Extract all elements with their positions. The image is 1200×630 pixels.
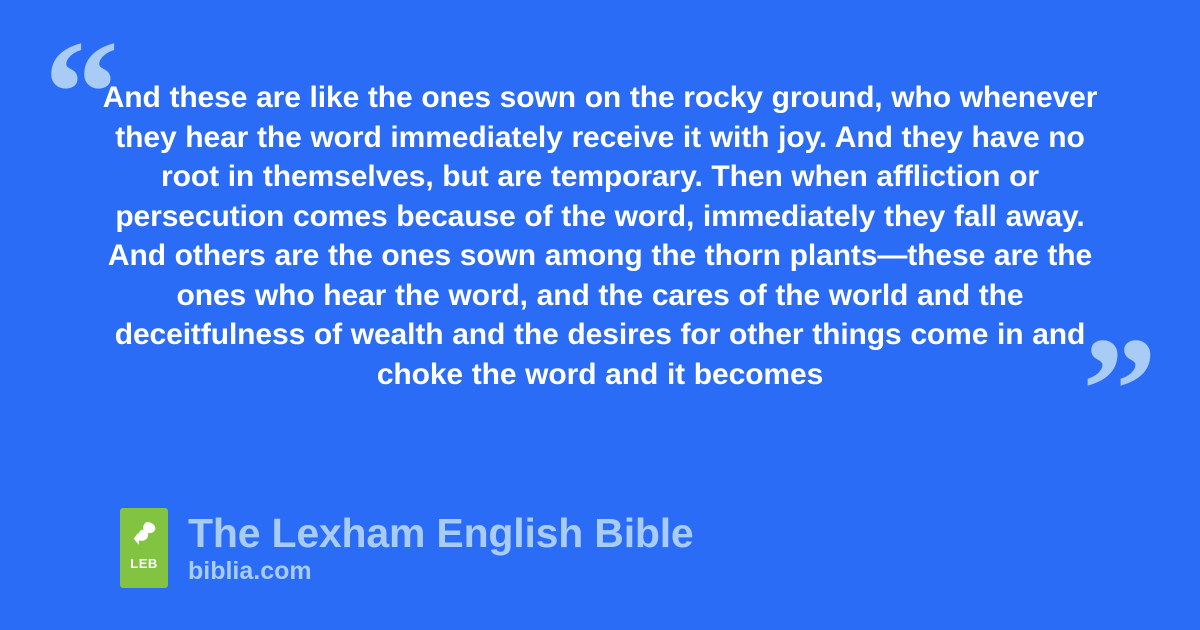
leb-logo-badge: LEB [120, 508, 168, 588]
leb-badge-label: LEB [130, 557, 158, 570]
quote-block: And these are like the ones sown on the … [100, 78, 1100, 394]
brand-title: The Lexham English Bible [188, 511, 694, 555]
brand-footer: LEB The Lexham English Bible biblia.com [120, 508, 694, 588]
brand-site-url: biblia.com [188, 556, 694, 586]
lexham-logo-icon [129, 519, 159, 549]
close-quote-icon: ” [1082, 315, 1157, 465]
brand-words: The Lexham English Bible biblia.com [188, 511, 694, 586]
quote-text: And these are like the ones sown on the … [100, 78, 1100, 394]
quote-card: “ And these are like the ones sown on th… [0, 0, 1200, 630]
